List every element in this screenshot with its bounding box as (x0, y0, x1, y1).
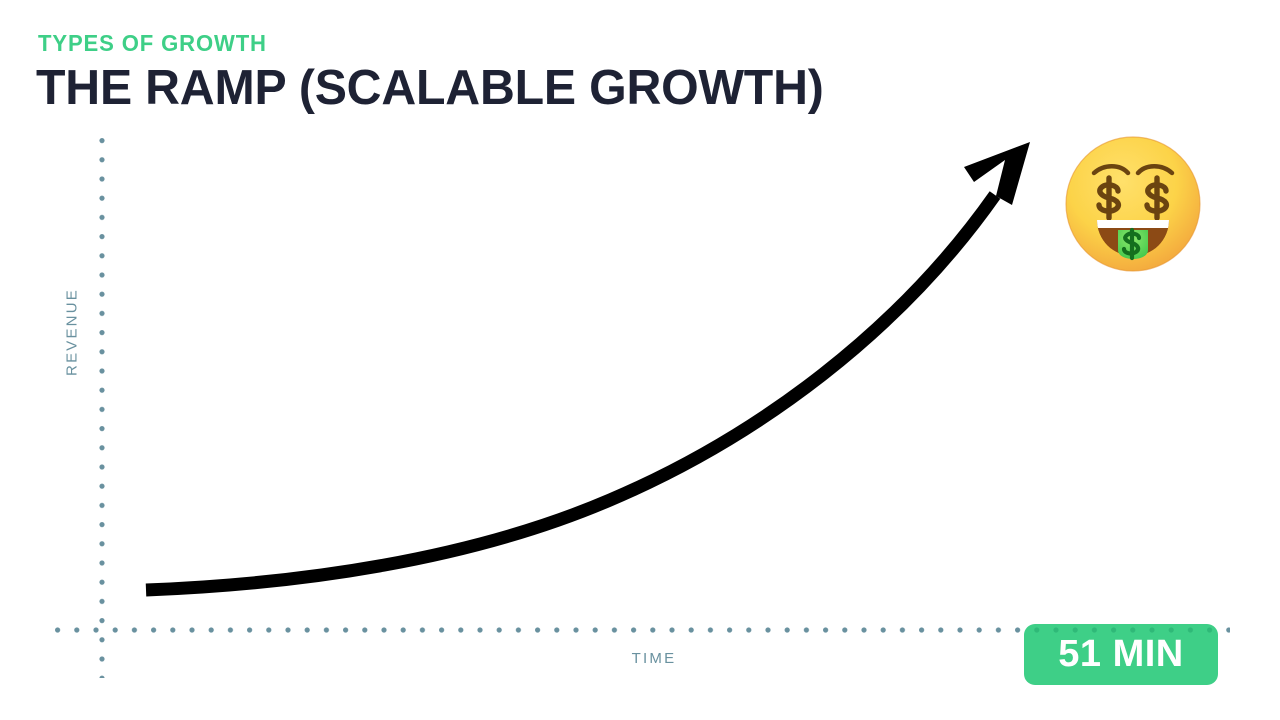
chart-svg (0, 0, 1280, 720)
y-axis-title-text: REVENUE (64, 288, 81, 376)
growth-chart: REVENUE TIME (0, 0, 1280, 720)
growth-curve (146, 195, 995, 590)
arrowhead (964, 142, 1030, 205)
y-axis-dotted-line (95, 136, 107, 678)
slide-canvas: TYPES OF GROWTH THE RAMP (SCALABLE GROWT… (0, 0, 1280, 720)
y-axis-title: REVENUE (62, 252, 82, 412)
duration-badge[interactable]: 51 MIN (1024, 624, 1218, 685)
duration-badge-label: 51 MIN (1058, 635, 1183, 675)
money-mouth-face-emoji (1063, 134, 1203, 274)
